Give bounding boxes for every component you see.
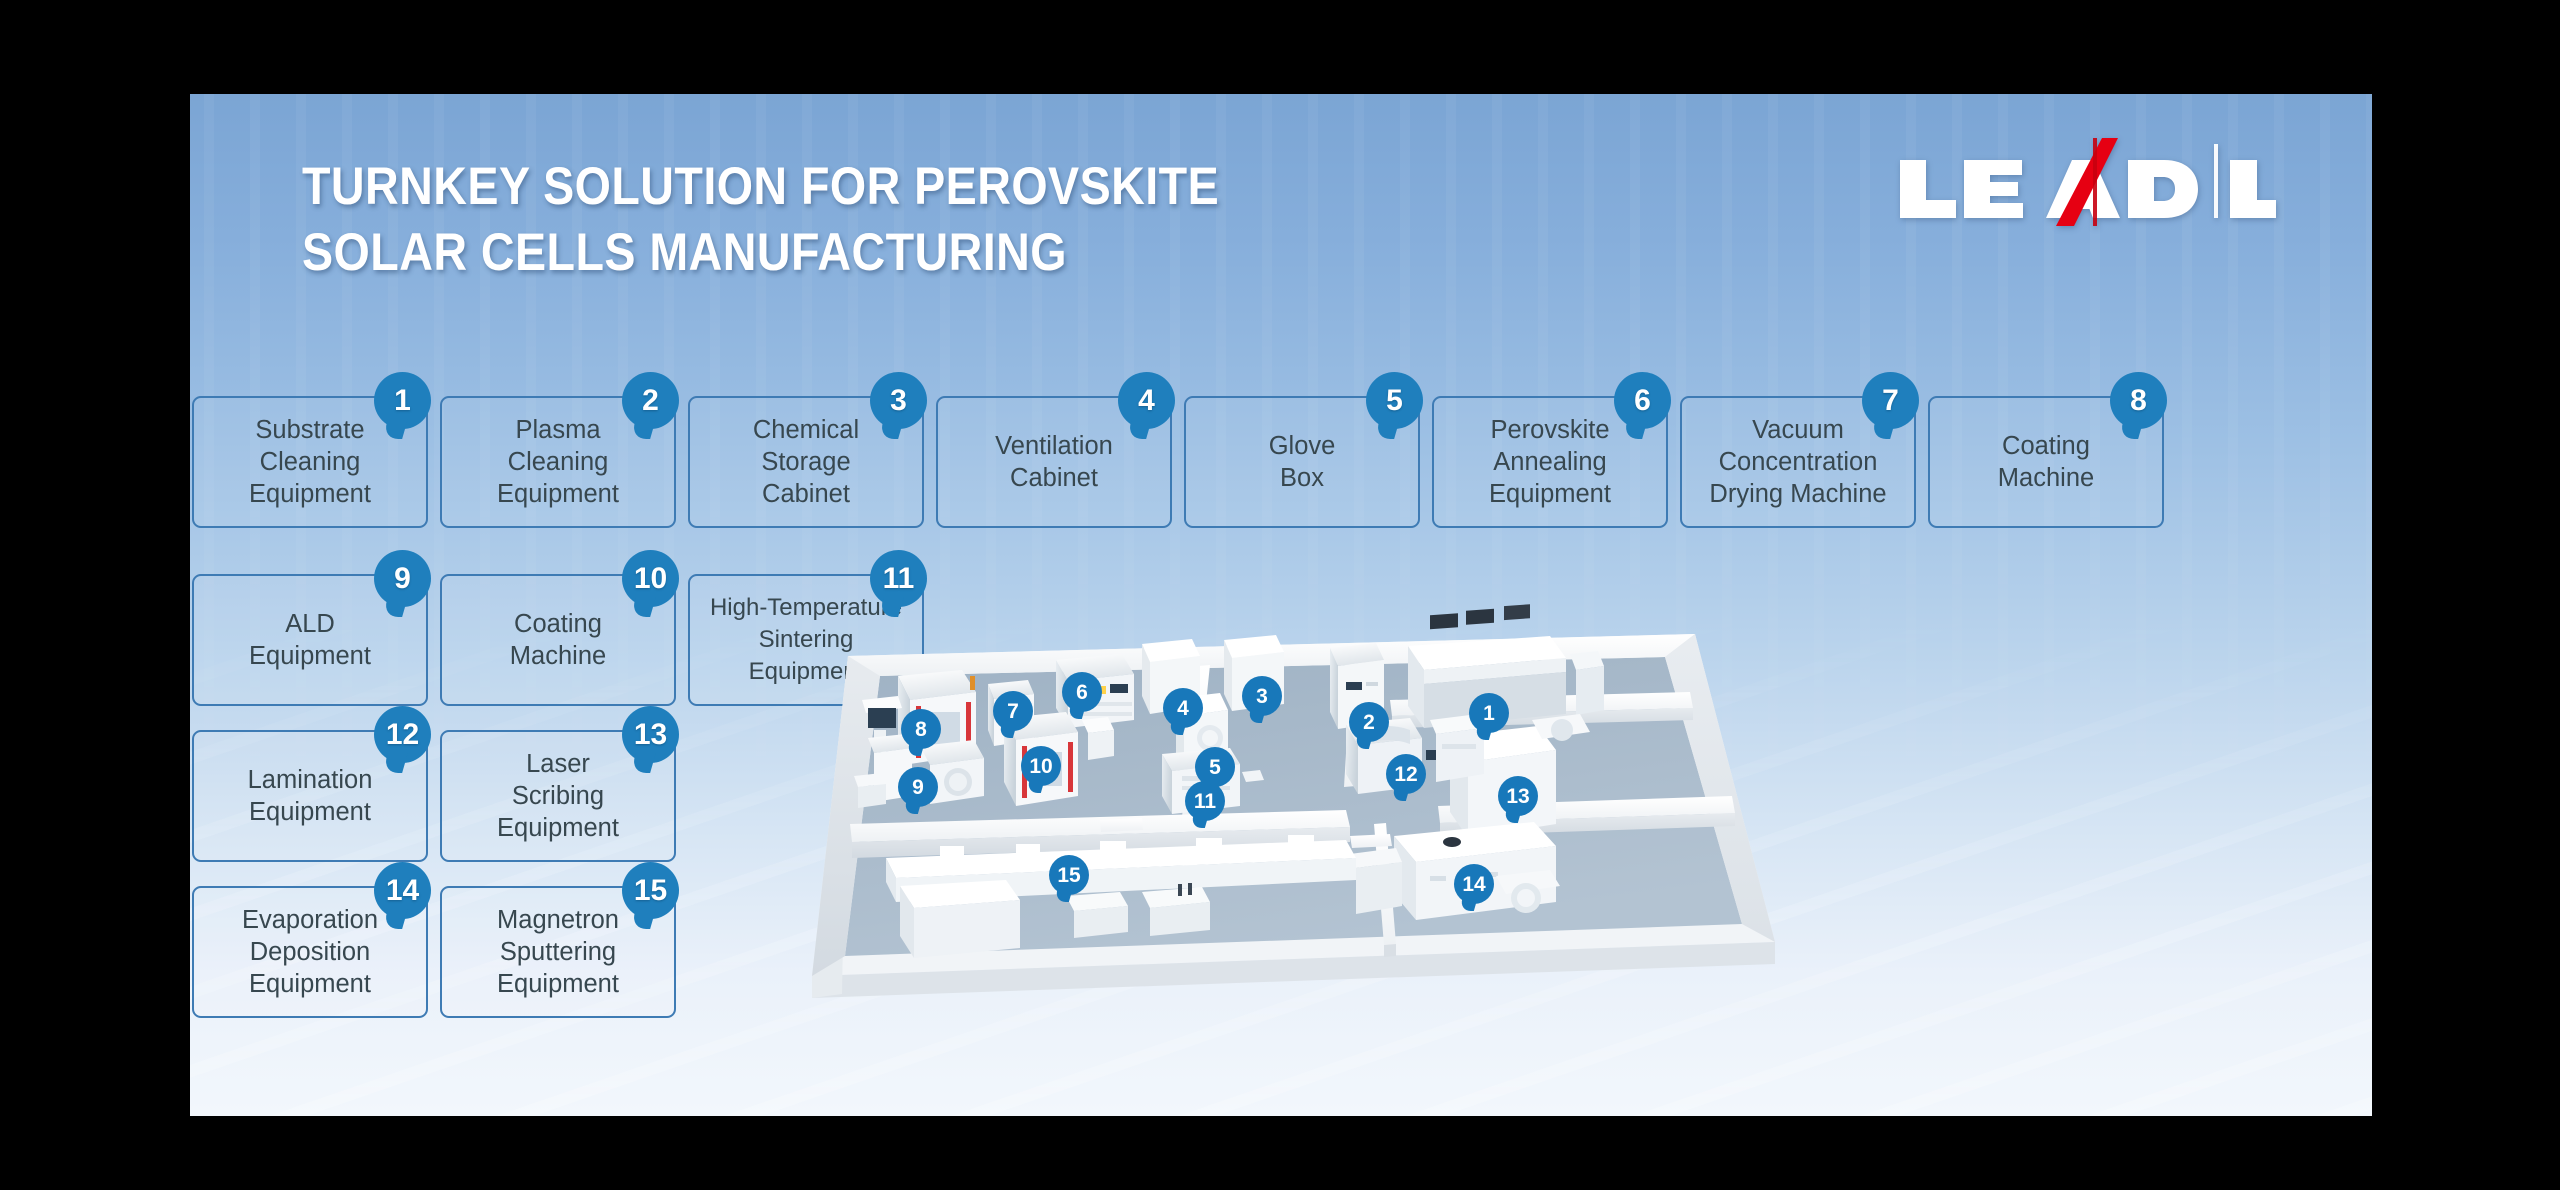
floorplan-marker-7[interactable]: 7 [993,691,1033,731]
badge-number: 6 [1634,386,1651,416]
floorplan-marker-6[interactable]: 6 [1062,672,1102,712]
badge-number: 12 [386,720,419,750]
floorplan-marker-8[interactable]: 8 [901,709,941,749]
legend-card-label: Chemical Storage Cabinet [753,414,859,510]
page-title: TURNKEY SOLUTION FOR PEROVSKITE SOLAR CE… [302,154,1219,286]
legend-badge-8[interactable]: 8 [2110,372,2167,429]
legend-card-label: Substrate Cleaning Equipment [249,414,371,510]
marker-number: 6 [1076,682,1088,703]
badge-number: 7 [1882,386,1899,416]
slide-canvas: TURNKEY SOLUTION FOR PEROVSKITE SOLAR CE… [190,94,2372,1116]
badge-number: 15 [634,876,667,906]
legend-badge-9[interactable]: 9 [374,550,431,607]
lead-lhi-logo-icon [1896,134,2276,226]
badge-number: 3 [890,386,907,416]
marker-number: 10 [1029,756,1052,777]
legend-card-label: Lamination Equipment [248,764,373,828]
floorplan-marker-14[interactable]: 14 [1454,864,1494,904]
legend-card-label: Glove Box [1269,430,1336,494]
marker-number: 2 [1363,712,1375,733]
marker-number: 1 [1483,703,1495,724]
badge-number: 5 [1386,386,1403,416]
marker-number: 8 [915,719,927,740]
factory-floorplan: 1 2 3 4 5 6 7 8 9 10 11 12 13 14 15 [790,524,1790,1004]
legend-badge-6[interactable]: 6 [1614,372,1671,429]
floorplan-marker-15[interactable]: 15 [1049,855,1089,895]
floorplan-marker-2[interactable]: 2 [1349,702,1389,742]
badge-number: 10 [634,564,667,594]
marker-number: 15 [1057,865,1080,886]
legend-badge-1[interactable]: 1 [374,372,431,429]
legend-badge-3[interactable]: 3 [870,372,927,429]
legend-card-label: Perovskite Annealing Equipment [1489,414,1611,510]
floorplan-marker-10[interactable]: 10 [1021,746,1061,786]
floorplan-marker-12[interactable]: 12 [1386,754,1426,794]
floorplan-marker-9[interactable]: 9 [898,767,938,807]
marker-number: 12 [1394,764,1417,785]
legend-badge-15[interactable]: 15 [622,862,679,919]
marker-number: 7 [1007,701,1019,722]
floorplan-marker-1[interactable]: 1 [1469,693,1509,733]
floorplan-marker-4[interactable]: 4 [1163,688,1203,728]
legend-badge-10[interactable]: 10 [622,550,679,607]
badge-number: 2 [642,386,659,416]
legend-card-label: Plasma Cleaning Equipment [497,414,619,510]
legend-card-label: Coating Machine [510,608,606,672]
marker-number: 4 [1177,698,1189,719]
legend-badge-7[interactable]: 7 [1862,372,1919,429]
legend-card-label: Laser Scribing Equipment [497,748,619,844]
marker-number: 9 [912,777,924,798]
legend-badge-4[interactable]: 4 [1118,372,1175,429]
factory-floorplan-render [790,524,1790,1004]
badge-number: 1 [394,386,411,416]
badge-number: 14 [386,876,419,906]
badge-number: 11 [883,564,915,594]
floorplan-marker-13[interactable]: 13 [1498,776,1538,816]
legend-badge-11[interactable]: 11 [870,550,927,607]
legend-badge-2[interactable]: 2 [622,372,679,429]
legend-card-label: Coating Machine [1998,430,2094,494]
legend-card-label: Ventilation Cabinet [995,430,1113,494]
legend-badge-12[interactable]: 12 [374,706,431,763]
badge-number: 9 [394,564,411,594]
marker-number: 5 [1209,757,1221,778]
legend-badge-14[interactable]: 14 [374,862,431,919]
legend-card-label: Vacuum Concentration Drying Machine [1709,414,1886,510]
badge-number: 8 [2130,386,2147,416]
marker-number: 13 [1506,786,1529,807]
legend-card-label: ALD Equipment [249,608,371,672]
floorplan-marker-11[interactable]: 11 [1185,781,1225,821]
legend-card-label: Magnetron Sputtering Equipment [497,904,619,1000]
marker-number: 11 [1194,791,1216,812]
legend-badge-13[interactable]: 13 [622,706,679,763]
brand-logo [1896,134,2276,226]
badge-number: 13 [634,720,667,750]
marker-number: 14 [1462,874,1485,895]
legend-card-label: Evaporation Deposition Equipment [242,904,378,1000]
floorplan-marker-3[interactable]: 3 [1242,676,1282,716]
legend-badge-5[interactable]: 5 [1366,372,1423,429]
badge-number: 4 [1138,386,1155,416]
marker-number: 3 [1256,686,1268,707]
